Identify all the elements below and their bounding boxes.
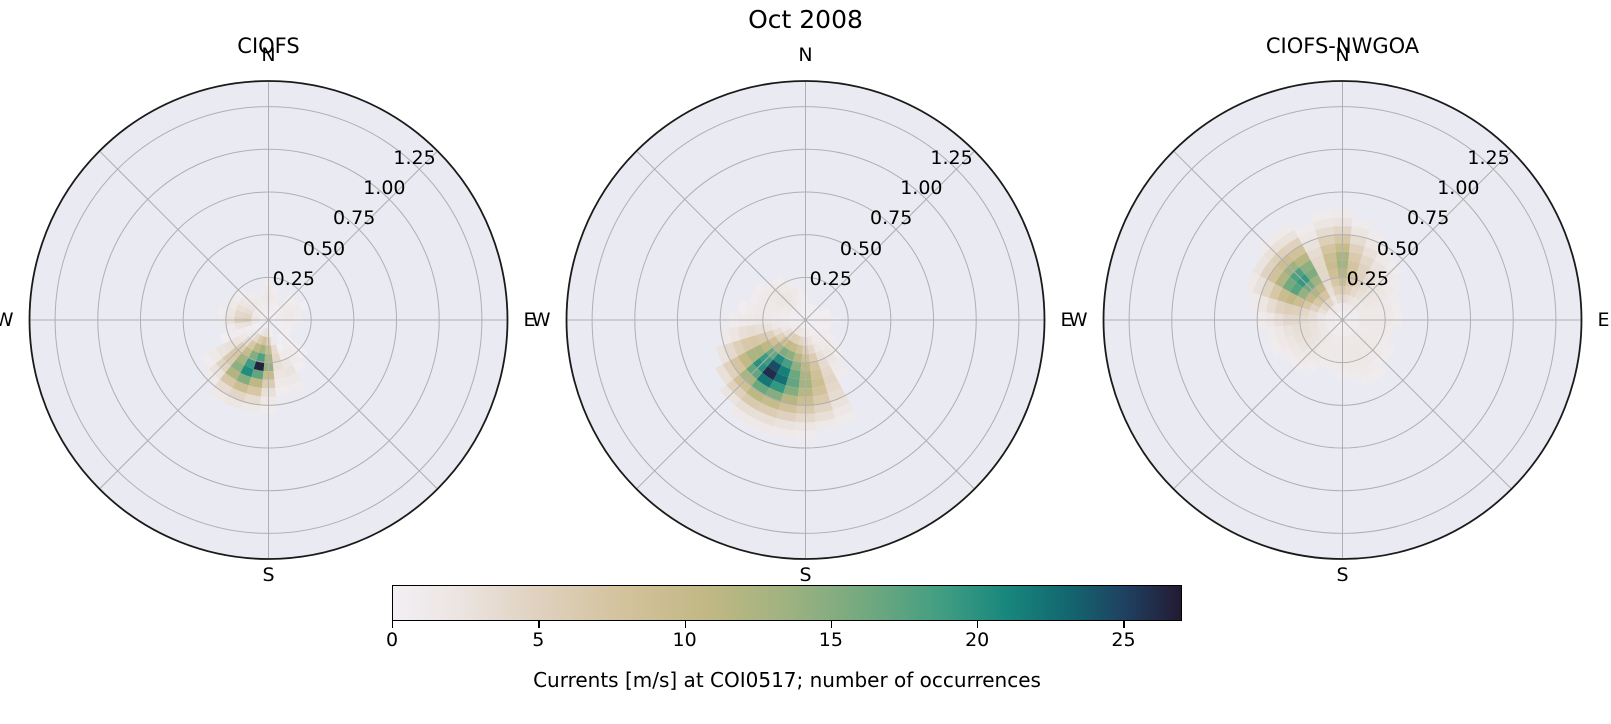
colorbar-tick [831, 621, 832, 628]
polar-plot-nwgoa [537, 0, 1074, 600]
polar-gridlines [30, 81, 508, 559]
polar-gridlines [567, 81, 1045, 559]
radial-tick-label: 1.00 [900, 177, 942, 199]
subplot-ciofs-nwgoa: CIOFS-NWGOA NESW0.250.500.751.001.25 [1074, 0, 1611, 600]
colorbar-tick-label: 5 [532, 629, 544, 651]
direction-label-s: S [799, 564, 811, 586]
colorbar-tick [977, 621, 978, 628]
radial-tick-label: 1.25 [1467, 147, 1509, 169]
direction-label-n: N [798, 44, 812, 66]
radial-tick-label: 0.50 [1377, 238, 1419, 260]
polar-plot-ciofs-nwgoa [1074, 0, 1611, 600]
direction-label-s: S [1336, 564, 1348, 586]
colorbar-tick-label: 15 [819, 629, 843, 651]
direction-label-n: N [261, 44, 275, 66]
subplot-ciofs: CIOFS NESW0.250.500.751.001.25 [0, 0, 537, 600]
radial-tick-label: 1.00 [1437, 177, 1479, 199]
polar-plot-ciofs [0, 0, 537, 600]
direction-label-n: N [1335, 44, 1349, 66]
radial-tick-label: 0.75 [870, 207, 912, 229]
colorbar-tick-label: 20 [965, 629, 989, 651]
direction-label-w: W [532, 309, 551, 331]
radial-tick-label: 1.25 [393, 147, 435, 169]
radial-tick-label: 1.25 [930, 147, 972, 169]
radial-tick-label: 0.50 [303, 238, 345, 260]
colorbar-label: Currents [m/s] at COI0517; number of occ… [392, 668, 1182, 692]
colorbar-tick [392, 621, 393, 628]
polar-axes-nwgoa: NESW0.250.500.751.001.25 [537, 0, 1074, 600]
radial-tick-label: 0.50 [840, 238, 882, 260]
subplot-nwgoa: NWGOA NESW0.250.500.751.001.25 [537, 0, 1074, 600]
radial-tick-label: 1.00 [363, 177, 405, 199]
radial-tick-label: 0.75 [1407, 207, 1449, 229]
colorbar-tick-label: 25 [1111, 629, 1135, 651]
colorbar: 0510152025 [392, 585, 1182, 621]
colorbar-tick [685, 621, 686, 628]
radial-tick-label: 0.25 [273, 268, 315, 290]
polar-rose-figure: Oct 2008 CIOFS NESW0.250.500.751.001.25 … [0, 0, 1611, 724]
colorbar-tick-label: 10 [672, 629, 696, 651]
direction-label-w: W [1069, 309, 1088, 331]
radial-tick-label: 0.25 [810, 268, 852, 290]
colorbar-tick [538, 621, 539, 628]
colorbar-gradient [392, 585, 1182, 621]
direction-label-e: E [1598, 309, 1610, 331]
direction-label-s: S [262, 564, 274, 586]
colorbar-tick-label: 0 [386, 629, 398, 651]
polar-axes-ciofs-nwgoa: NESW0.250.500.751.001.25 [1074, 0, 1611, 600]
direction-label-w: W [0, 309, 14, 331]
radial-tick-label: 0.25 [1347, 268, 1389, 290]
polar-axes-ciofs: NESW0.250.500.751.001.25 [0, 0, 537, 600]
polar-gridlines [1104, 81, 1582, 559]
radial-tick-label: 0.75 [333, 207, 375, 229]
colorbar-tick [1123, 621, 1124, 628]
